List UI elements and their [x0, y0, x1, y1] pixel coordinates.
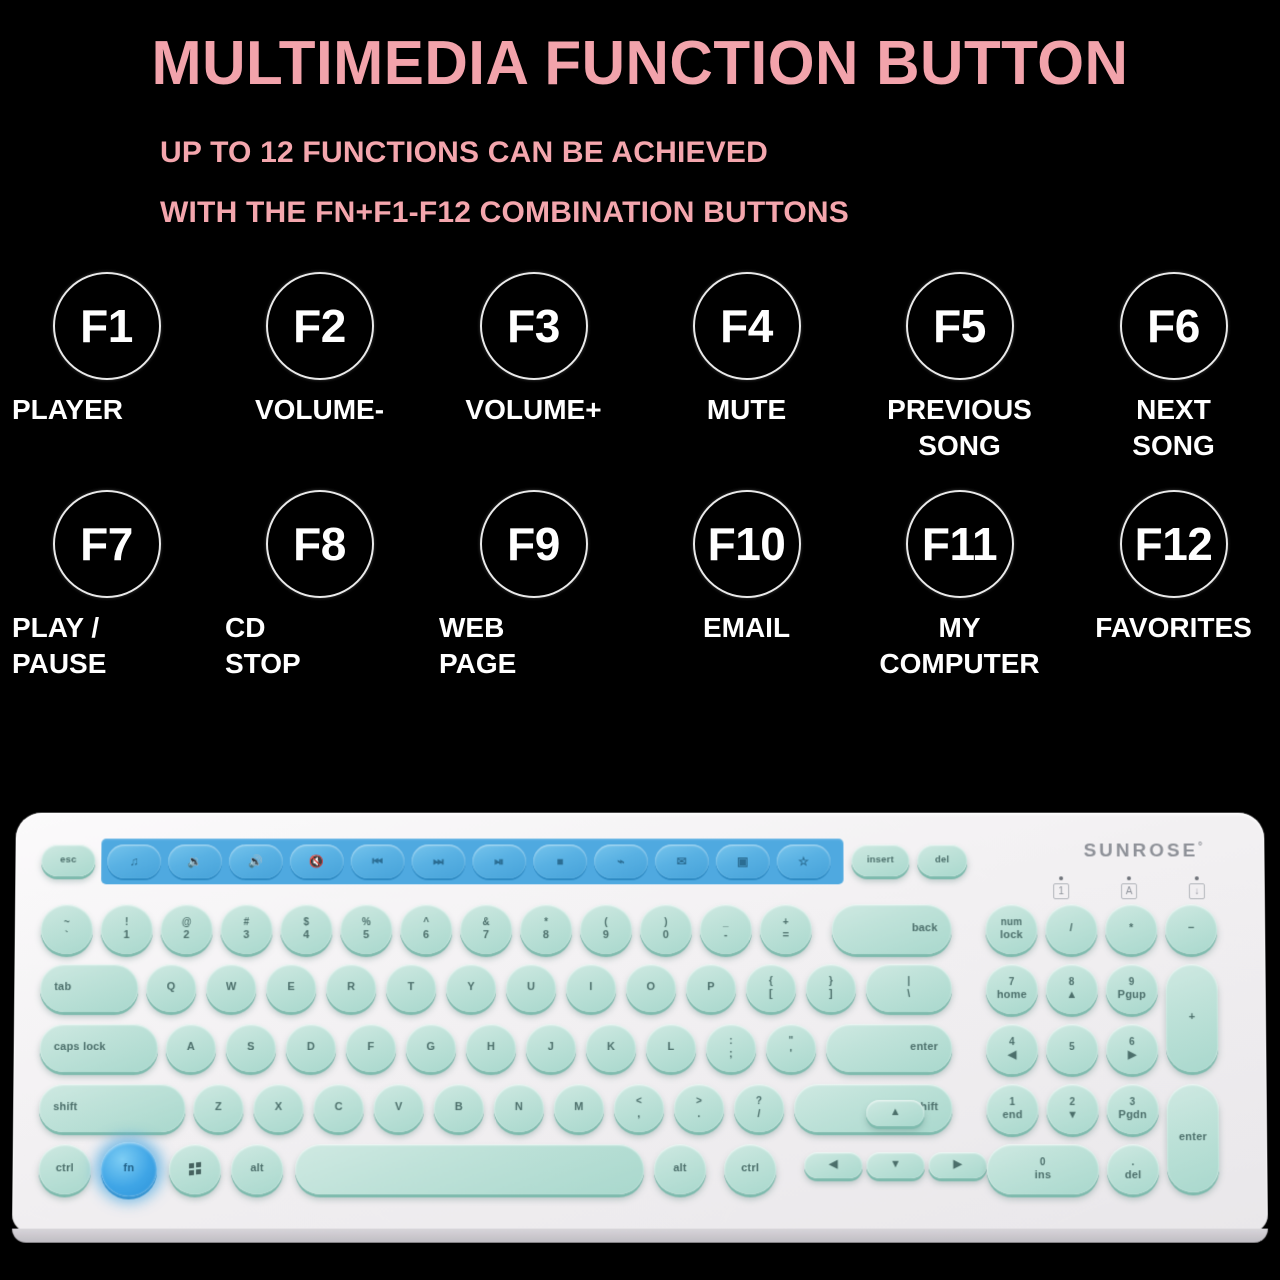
key-j[interactable]: J — [526, 1024, 576, 1072]
key-numpad-9[interactable]: 9Pgup — [1106, 964, 1158, 1014]
f1-player-icon: ♫ — [130, 855, 139, 867]
key-n[interactable]: N — [494, 1084, 544, 1132]
key-legend-bottom: ' — [790, 1049, 793, 1060]
function-key-item-f6: F6NEXT SONG — [1067, 272, 1280, 464]
key-numpad-multiply[interactable]: * — [1105, 904, 1157, 954]
key-esc[interactable]: esc — [41, 845, 95, 877]
key-comma[interactable]: <, — [614, 1084, 664, 1132]
key-arrow-up[interactable]: ▲ — [866, 1100, 924, 1126]
key-alt-right[interactable]: alt — [654, 1144, 706, 1194]
key-d[interactable]: D — [286, 1024, 336, 1072]
fkey-circle-f10: F10 — [693, 490, 801, 598]
f2-volume-down-icon: 🔉 — [187, 855, 202, 867]
key-legend-bottom: ▲ — [1066, 990, 1077, 1001]
fkey-label-f2: VOLUME- — [213, 392, 426, 428]
key-f12-favorites[interactable]: ☆ — [777, 845, 831, 879]
key-ctrl-left[interactable]: ctrl — [38, 1144, 91, 1194]
key-alt-left[interactable]: alt — [231, 1144, 283, 1194]
key-numpad-3[interactable]: 3Pgdn — [1106, 1084, 1158, 1134]
key-w[interactable]: W — [206, 964, 256, 1012]
key-legend-bottom: Pgup — [1118, 990, 1146, 1001]
key-legend-top: 1 — [1010, 1098, 1016, 1108]
key-numpad-2[interactable]: 2▼ — [1046, 1084, 1098, 1134]
key-arrow-right[interactable]: ▶ — [929, 1152, 987, 1178]
fkey-circle-f11: F11 — [906, 490, 1014, 598]
key-legend-top: 6 — [1129, 1038, 1135, 1048]
key-number-5[interactable]: %5 — [340, 904, 392, 954]
key-legend-top: } — [829, 977, 833, 987]
fkey-circle-f3: F3 — [480, 272, 588, 380]
key-o[interactable]: O — [626, 964, 676, 1012]
caps-lock-indicator-glyph: A — [1121, 883, 1137, 899]
key-number-9[interactable]: (9 — [580, 904, 632, 954]
key-e[interactable]: E — [266, 964, 316, 1012]
key-f[interactable]: F — [346, 1024, 396, 1072]
key-slash[interactable]: ?/ — [734, 1084, 784, 1132]
fkey-label-f4: MUTE — [640, 392, 853, 428]
key-legend-top: ) — [664, 918, 668, 928]
key-f11-my-computer[interactable]: ▣ — [716, 845, 770, 879]
fkey-circle-f1: F1 — [53, 272, 161, 380]
key-legend-top: @ — [182, 918, 192, 928]
brand-mark: ° — [1198, 841, 1202, 853]
key-space[interactable] — [295, 1144, 644, 1194]
f7-play-pause-icon: ⏯ — [494, 855, 504, 867]
key-caps-lock[interactable]: caps lock — [40, 1024, 158, 1072]
key-legend-top: | — [907, 977, 910, 987]
subtitle-line-2: WITH THE FN+F1-F12 COMBINATION BUTTONS — [160, 196, 849, 230]
key-f9-web-page[interactable]: ⌁ — [594, 845, 648, 879]
key-number-11[interactable]: _- — [700, 904, 752, 954]
fkey-label-f11: MY COMPUTER — [853, 610, 1066, 682]
key-number-4[interactable]: $4 — [280, 904, 332, 954]
key-i[interactable]: I — [566, 964, 616, 1012]
key-a[interactable]: A — [166, 1024, 216, 1072]
key-legend-top: " — [789, 1037, 794, 1047]
key-t[interactable]: T — [386, 964, 436, 1012]
key-legend-top: 0 — [1040, 1158, 1046, 1168]
key-f1-player[interactable]: ♫ — [107, 845, 161, 879]
key-legend-bottom: 0 — [663, 930, 669, 941]
key-tab[interactable]: tab — [40, 964, 138, 1012]
key-legend-bottom: end — [1002, 1110, 1022, 1121]
key-legend-top: ^ — [423, 918, 429, 928]
key-legend-bottom: ` — [65, 930, 69, 941]
key-f4-mute[interactable]: 🔇 — [290, 845, 344, 879]
num-lock-indicator-glyph: 1 — [1053, 883, 1069, 899]
key-legend-bottom: 7 — [483, 930, 489, 941]
f3-volume-up-icon: 🔊 — [248, 855, 263, 867]
key-legend-top: 9 — [1129, 978, 1135, 988]
key-v[interactable]: V — [374, 1084, 424, 1132]
scroll-lock-indicator: ↓ — [1189, 876, 1205, 899]
function-key-item-f7: F7PLAY / PAUSE — [0, 490, 213, 682]
key-f2-volume-down[interactable]: 🔉 — [168, 845, 222, 879]
function-key-item-f3: F3VOLUME+ — [427, 272, 640, 428]
key-arrow-left[interactable]: ◀ — [804, 1152, 862, 1178]
key-number-7[interactable]: &7 — [460, 904, 512, 954]
key-f5-previous-song[interactable]: ⏮ — [351, 845, 405, 879]
scroll-lock-indicator-glyph: ↓ — [1189, 883, 1205, 899]
key-shift-left[interactable]: shift — [39, 1084, 186, 1132]
brand-logo: SUNROSE° — [1083, 841, 1202, 863]
key-numpad-0[interactable]: 0ins — [987, 1144, 1100, 1194]
fkey-label-f5: PREVIOUS SONG — [853, 392, 1066, 464]
fkey-circle-f7: F7 — [53, 490, 161, 598]
key-legend-top: + — [783, 918, 789, 928]
key-numpad-plus[interactable]: + — [1166, 964, 1219, 1072]
led-dot-icon — [1059, 876, 1063, 880]
key-quote[interactable]: "' — [766, 1024, 816, 1072]
key-legend-bottom: 2 — [183, 930, 189, 941]
indicator-leds: 1A↓ — [1053, 876, 1205, 899]
key-legend-top: $ — [304, 918, 310, 928]
key-legend-top: { — [769, 977, 773, 987]
key-legend-bottom: Pgdn — [1118, 1110, 1146, 1121]
fkey-circle-f2: F2 — [266, 272, 374, 380]
function-key-item-f9: F9WEB PAGE — [427, 490, 640, 682]
key-legend-top: * — [544, 918, 548, 928]
f5-previous-song-icon: ⏮ — [372, 855, 383, 867]
windows-icon — [188, 1163, 201, 1176]
key-legend-bottom: [ — [769, 989, 773, 1000]
key-legend-top: ( — [604, 918, 608, 928]
key-legend-top: % — [362, 918, 371, 928]
key-legend-bottom: . — [697, 1109, 700, 1120]
key-legend-bottom: del — [1125, 1170, 1142, 1181]
key-u[interactable]: U — [506, 964, 556, 1012]
key-enter[interactable]: enter — [826, 1024, 952, 1072]
key-arrow-down[interactable]: ▼ — [866, 1152, 924, 1178]
key-q[interactable]: Q — [146, 964, 196, 1012]
f10-email-icon: ✉ — [677, 855, 687, 867]
key-h[interactable]: H — [466, 1024, 516, 1072]
key-m[interactable]: M — [554, 1084, 604, 1132]
key-l[interactable]: L — [646, 1024, 696, 1072]
key-legend-bottom: ◀ — [1008, 1050, 1017, 1061]
key-legend-top: _ — [723, 918, 729, 928]
key-legend-top: ~ — [64, 918, 70, 928]
key-number-8[interactable]: *8 — [520, 904, 572, 954]
key-legend-bottom: ▼ — [1067, 1110, 1078, 1121]
key-number-1[interactable]: !1 — [101, 904, 153, 954]
key-number-10[interactable]: )0 — [640, 904, 692, 954]
brand-name: SUNROSE — [1083, 841, 1198, 862]
key-number-12[interactable]: += — [760, 904, 812, 954]
keyboard-body: SUNROSE° 1A↓ esc♫🔉🔊🔇⏮⏭⏯⏹⌁✉▣☆insertdel~`!… — [12, 813, 1268, 1233]
caps-lock-indicator: A — [1121, 876, 1137, 899]
key-legend-bottom: home — [997, 990, 1027, 1001]
key-period[interactable]: >. — [674, 1084, 724, 1132]
fkey-label-f6: NEXT SONG — [1067, 392, 1280, 464]
page-title: MULTIMEDIA FUNCTION BUTTON — [19, 28, 1261, 99]
function-key-item-f4: F4MUTE — [640, 272, 853, 428]
key-legend-bottom: = — [782, 930, 789, 941]
f4-mute-icon: 🔇 — [309, 855, 324, 867]
key-legend-bottom: 1 — [123, 930, 129, 941]
subtitle-line-1: UP TO 12 FUNCTIONS CAN BE ACHIEVED — [160, 136, 768, 170]
function-key-item-f10: F10EMAIL — [640, 490, 853, 646]
key-legend-bottom: , — [637, 1109, 640, 1120]
key-number-3[interactable]: #3 — [220, 904, 272, 954]
key-backslash[interactable]: |\ — [866, 964, 952, 1012]
key-legend-top: . — [1131, 1158, 1134, 1168]
key-legend-top: & — [483, 918, 490, 928]
key-legend-bottom: 9 — [603, 930, 609, 941]
key-numpad-1[interactable]: 1end — [986, 1084, 1038, 1134]
function-key-item-f5: F5PREVIOUS SONG — [853, 272, 1066, 464]
fkey-circle-f6: F6 — [1120, 272, 1228, 380]
key-legend-top: : — [729, 1037, 733, 1047]
key-legend-bottom: 3 — [243, 930, 249, 941]
f12-favorites-icon: ☆ — [798, 855, 809, 867]
key-f3-volume-up[interactable]: 🔊 — [229, 845, 283, 879]
key-legend-top: 4 — [1009, 1038, 1015, 1048]
led-dot-icon — [1127, 876, 1131, 880]
key-legend-top: num — [1001, 918, 1023, 928]
num-lock-indicator: 1 — [1053, 876, 1069, 899]
key-bracket-left[interactable]: {[ — [746, 964, 796, 1012]
fkey-label-f10: EMAIL — [640, 610, 853, 646]
key-number-6[interactable]: ^6 — [400, 904, 452, 954]
function-key-item-f8: F8CD STOP — [213, 490, 426, 682]
key-legend-bottom: 8 — [543, 930, 549, 941]
key-numpad-8[interactable]: 8▲ — [1046, 964, 1098, 1014]
page-root: MULTIMEDIA FUNCTION BUTTON UP TO 12 FUNC… — [0, 0, 1280, 1280]
key-legend-bottom: 5 — [363, 930, 369, 941]
f9-web-page-icon: ⌁ — [617, 855, 624, 867]
fkey-circle-f12: F12 — [1120, 490, 1228, 598]
fkey-label-f12: FAVORITES — [1067, 610, 1280, 646]
key-legend-top: < — [636, 1097, 642, 1107]
f6-next-song-icon: ⏭ — [433, 855, 444, 867]
key-legend-top: > — [696, 1097, 702, 1107]
function-key-item-f11: F11MY COMPUTER — [853, 490, 1066, 682]
key-legend-top: 2 — [1070, 1098, 1076, 1108]
keyboard-photo: SUNROSE° 1A↓ esc♫🔉🔊🔇⏮⏭⏯⏹⌁✉▣☆insertdel~`!… — [0, 790, 1280, 1260]
key-backspace[interactable]: back — [832, 904, 952, 954]
fkey-circle-f9: F9 — [480, 490, 588, 598]
fkey-circle-f4: F4 — [693, 272, 801, 380]
fkey-label-f7: PLAY / PAUSE — [0, 610, 213, 682]
key-legend-top: ? — [756, 1097, 762, 1107]
fkey-circle-f8: F8 — [266, 490, 374, 598]
fkey-label-f8: CD STOP — [213, 610, 426, 682]
fkey-circle-f5: F5 — [906, 272, 1014, 380]
key-legend-top: 5 — [1069, 1043, 1075, 1053]
key-b[interactable]: B — [434, 1084, 484, 1132]
key-legend-top: ! — [125, 918, 129, 928]
key-k[interactable]: K — [586, 1024, 636, 1072]
key-numpad-dot[interactable]: .del — [1107, 1144, 1159, 1194]
key-num-lock[interactable]: numlock — [985, 904, 1037, 954]
key-legend-top: # — [244, 918, 250, 928]
key-legend-bottom: ins — [1035, 1170, 1052, 1181]
key-numpad-divide[interactable]: / — [1045, 904, 1097, 954]
key-legend-bottom: lock — [1000, 930, 1023, 941]
led-dot-icon — [1195, 876, 1199, 880]
key-legend-bottom: \ — [907, 989, 910, 1000]
fkey-label-f3: VOLUME+ — [427, 392, 640, 428]
key-numpad-4[interactable]: 4◀ — [986, 1024, 1038, 1074]
key-numpad-6[interactable]: 6▶ — [1106, 1024, 1158, 1074]
function-key-item-f12: F12FAVORITES — [1067, 490, 1280, 646]
key-numpad-enter[interactable]: enter — [1166, 1084, 1219, 1192]
key-g[interactable]: G — [406, 1024, 456, 1072]
key-f6-next-song[interactable]: ⏭ — [411, 845, 465, 879]
key-legend-bottom: ▶ — [1128, 1050, 1137, 1061]
key-number-0[interactable]: ~` — [41, 904, 93, 954]
function-key-item-f1: F1PLAYER — [0, 272, 213, 428]
key-legend-bottom: / — [758, 1109, 761, 1120]
key-c[interactable]: C — [313, 1084, 363, 1132]
key-p[interactable]: P — [686, 964, 736, 1012]
key-fn[interactable]: fn — [101, 1142, 158, 1196]
key-numpad-5[interactable]: 5 — [1046, 1024, 1098, 1074]
key-legend-bottom: ] — [829, 989, 833, 1000]
key-ctrl-right[interactable]: ctrl — [724, 1144, 776, 1194]
key-legend-top: 8 — [1069, 978, 1075, 988]
key-legend-top: 7 — [1009, 978, 1015, 988]
key-numpad-7[interactable]: 7home — [986, 964, 1038, 1014]
key-z[interactable]: Z — [193, 1084, 243, 1132]
key-del[interactable]: del — [917, 845, 967, 877]
key-legend-bottom: 4 — [303, 930, 309, 941]
function-key-legend: F1PLAYERF2VOLUME-F3VOLUME+F4MUTEF5PREVIO… — [0, 272, 1280, 742]
f8-cd-stop-icon: ⏹ — [557, 855, 563, 867]
key-s[interactable]: S — [226, 1024, 276, 1072]
key-legend-top: 3 — [1130, 1098, 1136, 1108]
key-legend-bottom: ; — [729, 1049, 733, 1060]
key-number-2[interactable]: @2 — [160, 904, 212, 954]
f11-my-computer-icon: ▣ — [737, 855, 749, 867]
key-windows[interactable] — [169, 1144, 221, 1194]
key-legend-bottom: - — [724, 930, 728, 941]
key-insert[interactable]: insert — [851, 845, 909, 877]
key-f8-cd-stop[interactable]: ⏹ — [533, 845, 587, 879]
fkey-label-f9: WEB PAGE — [427, 610, 640, 682]
key-legend-bottom: 6 — [423, 930, 429, 941]
key-x[interactable]: X — [253, 1084, 303, 1132]
key-r[interactable]: R — [326, 964, 376, 1012]
key-bracket-right[interactable]: }] — [806, 964, 856, 1012]
key-f10-email[interactable]: ✉ — [655, 845, 709, 879]
key-numpad-minus[interactable]: − — [1165, 904, 1217, 954]
function-key-item-f2: F2VOLUME- — [213, 272, 426, 428]
key-y[interactable]: Y — [446, 964, 496, 1012]
fkey-label-f1: PLAYER — [0, 392, 213, 428]
key-f7-play-pause[interactable]: ⏯ — [472, 845, 526, 879]
key-semicolon[interactable]: :; — [706, 1024, 756, 1072]
